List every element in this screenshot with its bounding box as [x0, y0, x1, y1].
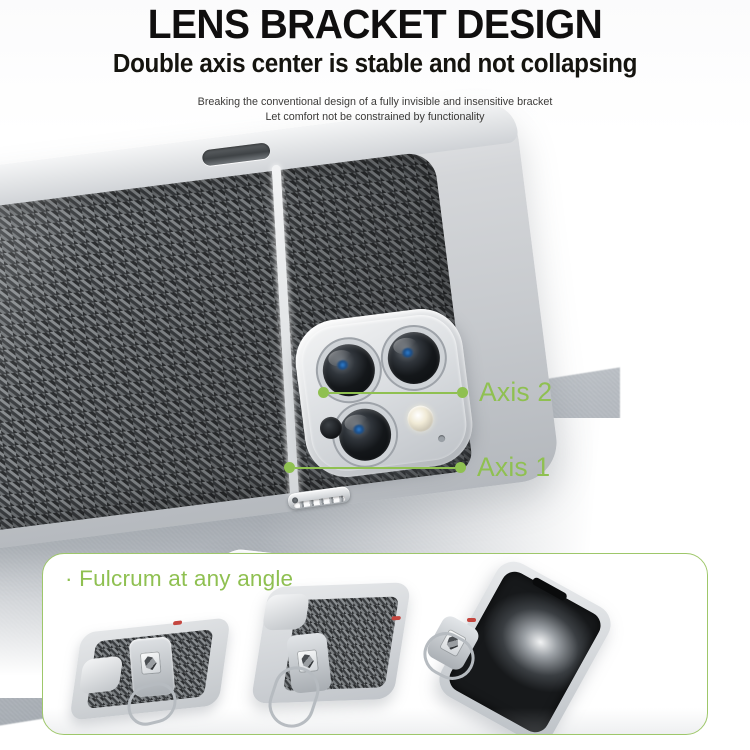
mini-phone-1-logo-badge [140, 651, 162, 675]
callout-axis-2-end-dot [457, 387, 468, 398]
callout-axis-1-label: Axis 1 [477, 452, 550, 483]
page-title: LENS BRACKET DESIGN [19, 0, 732, 46]
fulcrum-angles-card: · Fulcrum at any angle [42, 553, 708, 735]
callout-axis-1: Axis 1 [284, 452, 550, 483]
callout-axis-1-anchor-dot [284, 462, 295, 473]
callout-axis-1-end-dot [455, 462, 466, 473]
hero-product-scene [0, 118, 750, 578]
mini-phone-2-action-key [391, 616, 401, 620]
callout-axis-2-line [329, 392, 457, 394]
mini-phone-1-action-key [173, 620, 183, 625]
flash-icon [406, 404, 435, 433]
tagline-line-2: Let comfort not be constrained by functi… [15, 110, 735, 125]
mini-phone-3-action-key [467, 618, 476, 622]
callout-axis-1-line [295, 467, 455, 469]
page-subtitle: Double axis center is stable and not col… [19, 50, 732, 79]
callout-axis-2-anchor-dot [318, 387, 329, 398]
card-inner-shadow [43, 708, 707, 734]
microphone-dot [438, 435, 446, 443]
product-marketing-image: LENS BRACKET DESIGN Double axis center i… [0, 0, 750, 750]
tagline-line-1: Breaking the conventional design of a fu… [15, 95, 735, 110]
callout-axis-2: Axis 2 [318, 377, 552, 408]
callout-axis-2-label: Axis 2 [479, 377, 552, 408]
header-block: LENS BRACKET DESIGN Double axis center i… [0, 0, 750, 125]
tagline-block: Breaking the conventional design of a fu… [15, 95, 735, 125]
